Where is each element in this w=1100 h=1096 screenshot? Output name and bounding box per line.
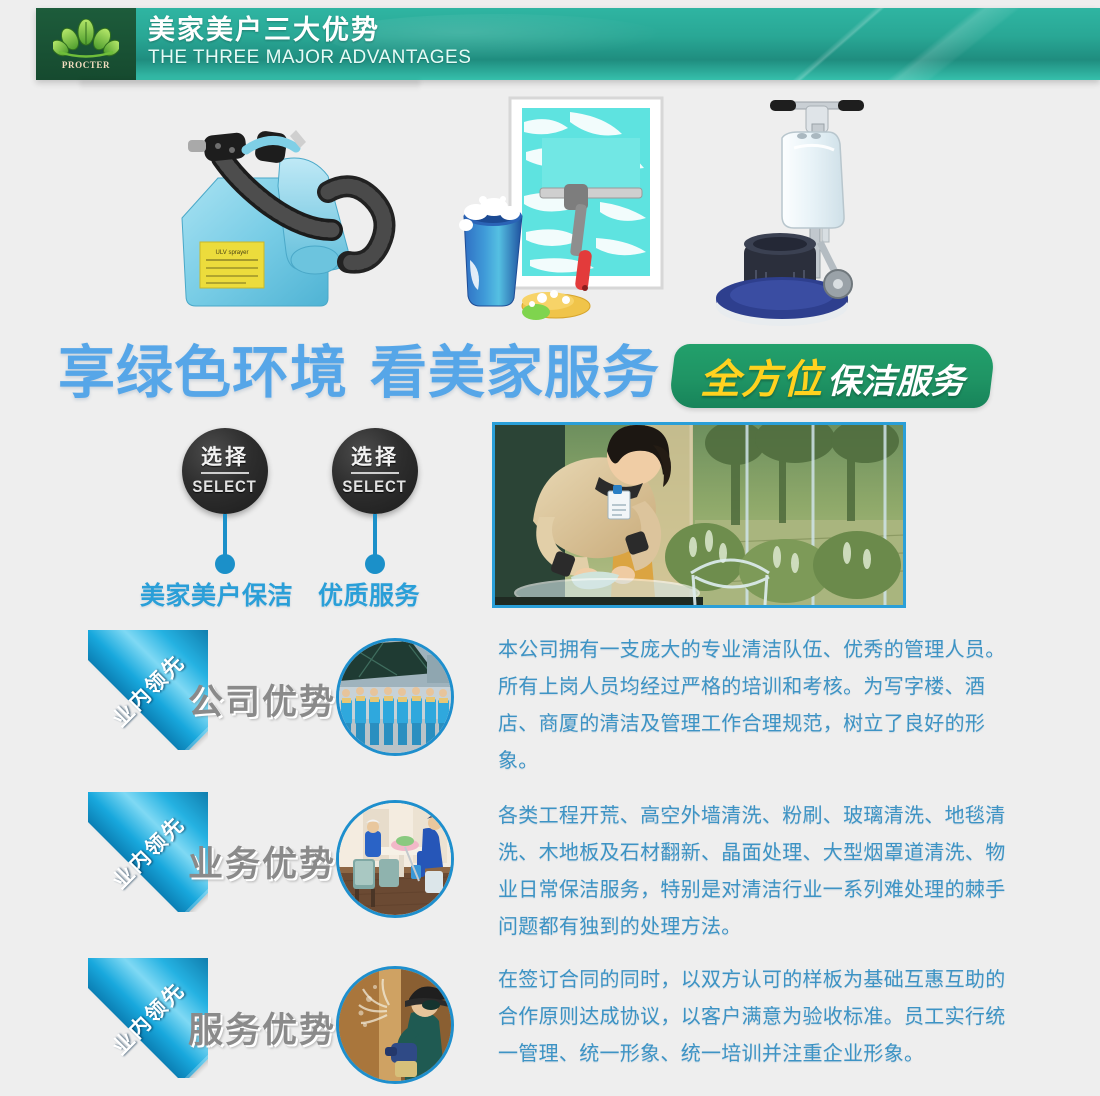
product-image-ulv-sprayer: ULV sprayer — [160, 100, 430, 325]
advantage-ribbon-label-1: 业内领先 — [105, 647, 191, 733]
header-title-cn: 美家美户三大优势 — [148, 14, 471, 46]
main-headline: 享绿色环境看美家服务 — [58, 340, 660, 406]
select-pin-2[interactable]: 选择 SELECT — [332, 428, 418, 574]
advantage-photo-1 — [336, 638, 454, 756]
advantage-title-2: 业务优势 — [188, 836, 336, 887]
headline-part-2: 看美家服务 — [370, 341, 660, 405]
product-image-floor-polisher — [710, 92, 920, 332]
advantage-row-3: 业内领先 服务优势 — [0, 958, 1100, 1096]
header-title-block: 美家美户三大优势 THE THREE MAJOR ADVANTAGES — [148, 14, 471, 70]
product-image-strip: ULV sprayer — [0, 92, 1100, 337]
banner-rest-text: 保洁服务 — [827, 354, 965, 403]
worker-photo — [492, 422, 906, 608]
page-root: PROCTER 美家美户三大优势 THE THREE MAJOR ADVANTA… — [0, 0, 1100, 1096]
green-service-banner: 全方位 保洁服务 — [668, 344, 996, 408]
advantage-row-2: 业内领先 业务优势 — [0, 792, 1100, 942]
advantage-row-1: 业内领先 公司优势 — [0, 630, 1100, 780]
header-drop-shadow — [80, 80, 420, 90]
select-badge-cn-2: 选择 — [351, 446, 399, 474]
select-badge-circle-1: 选择 SELECT — [182, 428, 268, 514]
advantage-title-1: 公司优势 — [188, 674, 336, 725]
brand-logo-text: PROCTER — [62, 60, 110, 70]
select-badge-en-2: SELECT — [343, 477, 407, 497]
advantage-text-1: 本公司拥有一支庞大的专业清洁队伍、优秀的管理人员。所有上岗人员均经过严格的培训和… — [498, 632, 1018, 780]
header-diagonal-sheen-2 — [621, 8, 1038, 80]
pin-stem-1 — [223, 514, 227, 556]
advantage-ribbon-label-2: 业内领先 — [105, 809, 191, 895]
select-badge-en-1: SELECT — [193, 477, 257, 497]
product-image-window-cleaning-set — [450, 92, 680, 332]
header-diagonal-sheen — [674, 8, 1100, 80]
page-header: PROCTER 美家美户三大优势 THE THREE MAJOR ADVANTA… — [36, 8, 1100, 80]
select-badge-circle-2: 选择 SELECT — [332, 428, 418, 514]
select-pin-label-2: 优质服务 — [318, 576, 420, 612]
headline-part-1: 享绿色环境 — [58, 341, 348, 405]
pin-dot-2 — [365, 554, 385, 574]
pin-stem-2 — [373, 514, 377, 556]
select-pin-1[interactable]: 选择 SELECT — [182, 428, 268, 574]
leaves-crown-icon — [53, 19, 119, 61]
banner-highlight-text: 全方位 — [700, 347, 823, 405]
pin-dot-1 — [215, 554, 235, 574]
advantage-photo-2 — [336, 800, 454, 918]
advantage-ribbon-label-3: 业内领先 — [105, 975, 191, 1061]
header-title-en: THE THREE MAJOR ADVANTAGES — [148, 46, 471, 70]
select-badge-cn-1: 选择 — [201, 446, 249, 474]
svg-text:ULV sprayer: ULV sprayer — [216, 250, 249, 256]
select-pin-label-1: 美家美户保洁 — [140, 576, 293, 612]
advantage-text-3: 在签订合同的同时，以双方认可的样板为基础互惠互助的合作原则达成协议，以客户满意为… — [498, 962, 1018, 1073]
brand-logo[interactable]: PROCTER — [36, 8, 136, 80]
advantage-text-2: 各类工程开荒、高空外墙清洗、粉刷、玻璃清洗、地毯清洗、木地板及石材翻新、晶面处理… — [498, 798, 1018, 946]
advantage-title-3: 服务优势 — [188, 1002, 336, 1053]
advantage-photo-3 — [336, 966, 454, 1084]
